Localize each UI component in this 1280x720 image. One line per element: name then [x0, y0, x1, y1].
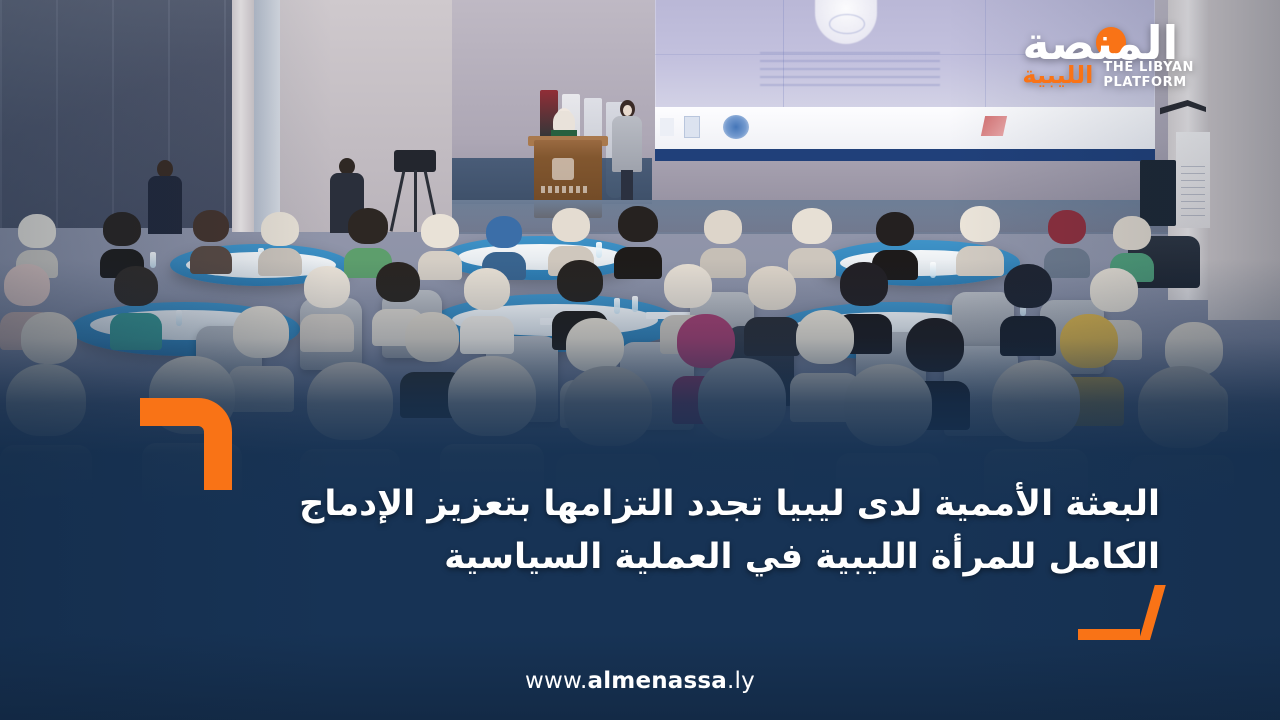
brand-logo[interactable]: المنصة THE LIBYAN PLATFORM الليبية — [1022, 18, 1194, 90]
page-title: البعثة الأممية لدى ليبيا تجدد التزامها ب… — [150, 478, 1160, 584]
website-url[interactable]: www.almenassa.ly — [0, 668, 1280, 694]
orange-corner-bracket-top-left-icon — [140, 398, 232, 490]
headline-line-1: البعثة الأممية لدى ليبيا تجدد التزامها ب… — [150, 478, 1160, 531]
logo-english-line2: PLATFORM — [1103, 75, 1194, 90]
orange-corner-bracket-bottom-right-icon — [1078, 588, 1150, 640]
url-name: almenassa — [587, 668, 727, 694]
headline-line-2: الكامل للمرأة الليبية في العملية السياسي… — [150, 531, 1160, 584]
url-prefix: www. — [525, 668, 587, 694]
url-tld: .ly — [727, 668, 755, 694]
social-news-card: المنصة THE LIBYAN PLATFORM الليبية البعث… — [0, 0, 1280, 720]
logo-arabic-main: المنصة — [1022, 18, 1178, 68]
